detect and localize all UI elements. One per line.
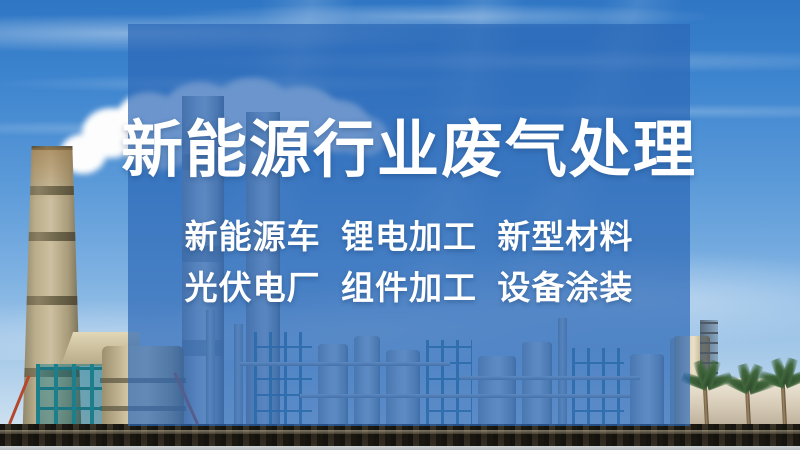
palm-tree bbox=[778, 380, 792, 426]
palm-tree bbox=[700, 382, 714, 426]
crane-left bbox=[8, 375, 30, 424]
promo-banner: 新能源行业废气处理 新能源车 锂电加工 新型材料 光伏电厂 组件加工 设备涂装 bbox=[0, 0, 800, 450]
pier-rail bbox=[0, 430, 800, 434]
banner-subtitle-group: 新能源车 锂电加工 新型材料 光伏电厂 组件加工 设备涂装 bbox=[185, 220, 634, 305]
banner-subtitle-line-1: 新能源车 锂电加工 新型材料 bbox=[185, 220, 634, 255]
pier-foreground bbox=[0, 424, 800, 446]
banner-subtitle-line-2: 光伏电厂 组件加工 设备涂装 bbox=[185, 271, 634, 306]
banner-text-block: 新能源行业废气处理 新能源车 锂电加工 新型材料 光伏电厂 组件加工 设备涂装 bbox=[128, 24, 690, 426]
waterline-strip bbox=[0, 446, 800, 450]
palm-tree bbox=[742, 386, 756, 426]
banner-title: 新能源行业废气处理 bbox=[121, 120, 697, 182]
